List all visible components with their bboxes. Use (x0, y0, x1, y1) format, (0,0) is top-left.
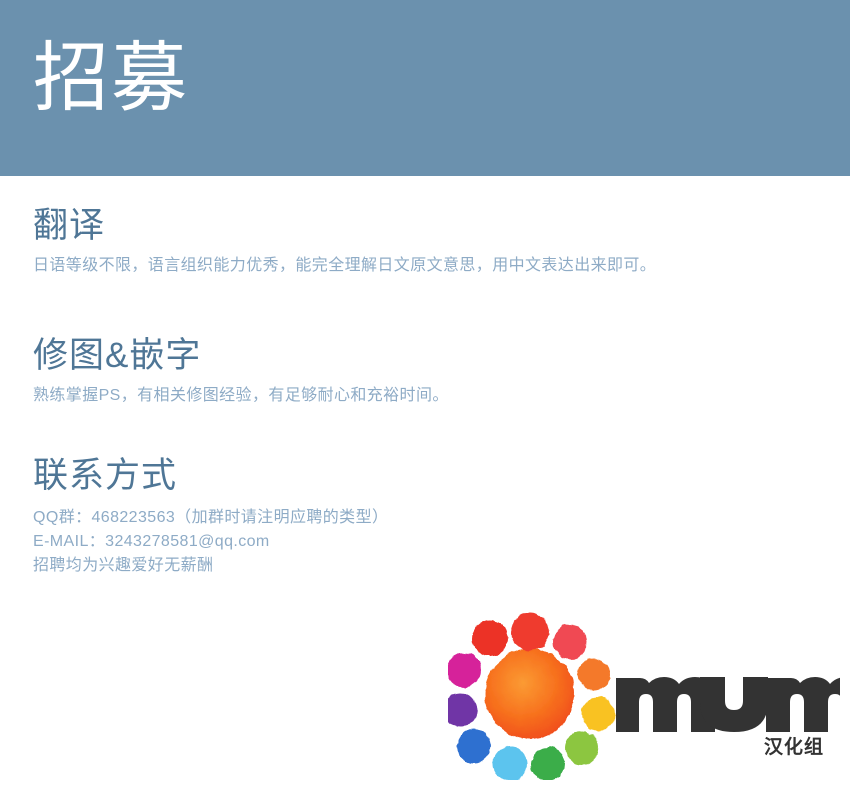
logo-center-blob-icon (485, 649, 575, 739)
section-contact-heading: 联系方式 (33, 454, 833, 498)
logo-wordmark-mum-icon (616, 664, 840, 736)
logo: 汉化组 (448, 612, 840, 780)
section-translate-heading: 翻译 (33, 204, 833, 248)
section-retouch-body: 熟练掌握PS，有相关修图经验，有足够耐心和充裕时间。 (33, 384, 833, 408)
section-translate-body: 日语等级不限，语言组织能力优秀，能完全理解日文原文意思，用中文表达出来即可。 (33, 254, 833, 278)
header-banner: 招募 (0, 0, 850, 176)
contact-note-line: 招聘均为兴趣爱好无薪酬 (33, 554, 833, 578)
section-retouch-heading: 修图&嵌字 (33, 334, 833, 378)
page-title: 招募 (33, 34, 189, 124)
section-contact: 联系方式 QQ群：468223563（加群时请注明应聘的类型） E-MAIL：3… (33, 454, 833, 578)
watercolor-circle-mark-icon (448, 612, 616, 780)
logo-subtitle: 汉化组 (764, 737, 824, 759)
section-retouch: 修图&嵌字 熟练掌握PS，有相关修图经验，有足够耐心和充裕时间。 (33, 334, 833, 408)
contact-email-line: E-MAIL：3243278581@qq.com (33, 530, 833, 554)
section-translate: 翻译 日语等级不限，语言组织能力优秀，能完全理解日文原文意思，用中文表达出来即可… (33, 204, 833, 278)
contact-qq-line: QQ群：468223563（加群时请注明应聘的类型） (33, 506, 833, 530)
